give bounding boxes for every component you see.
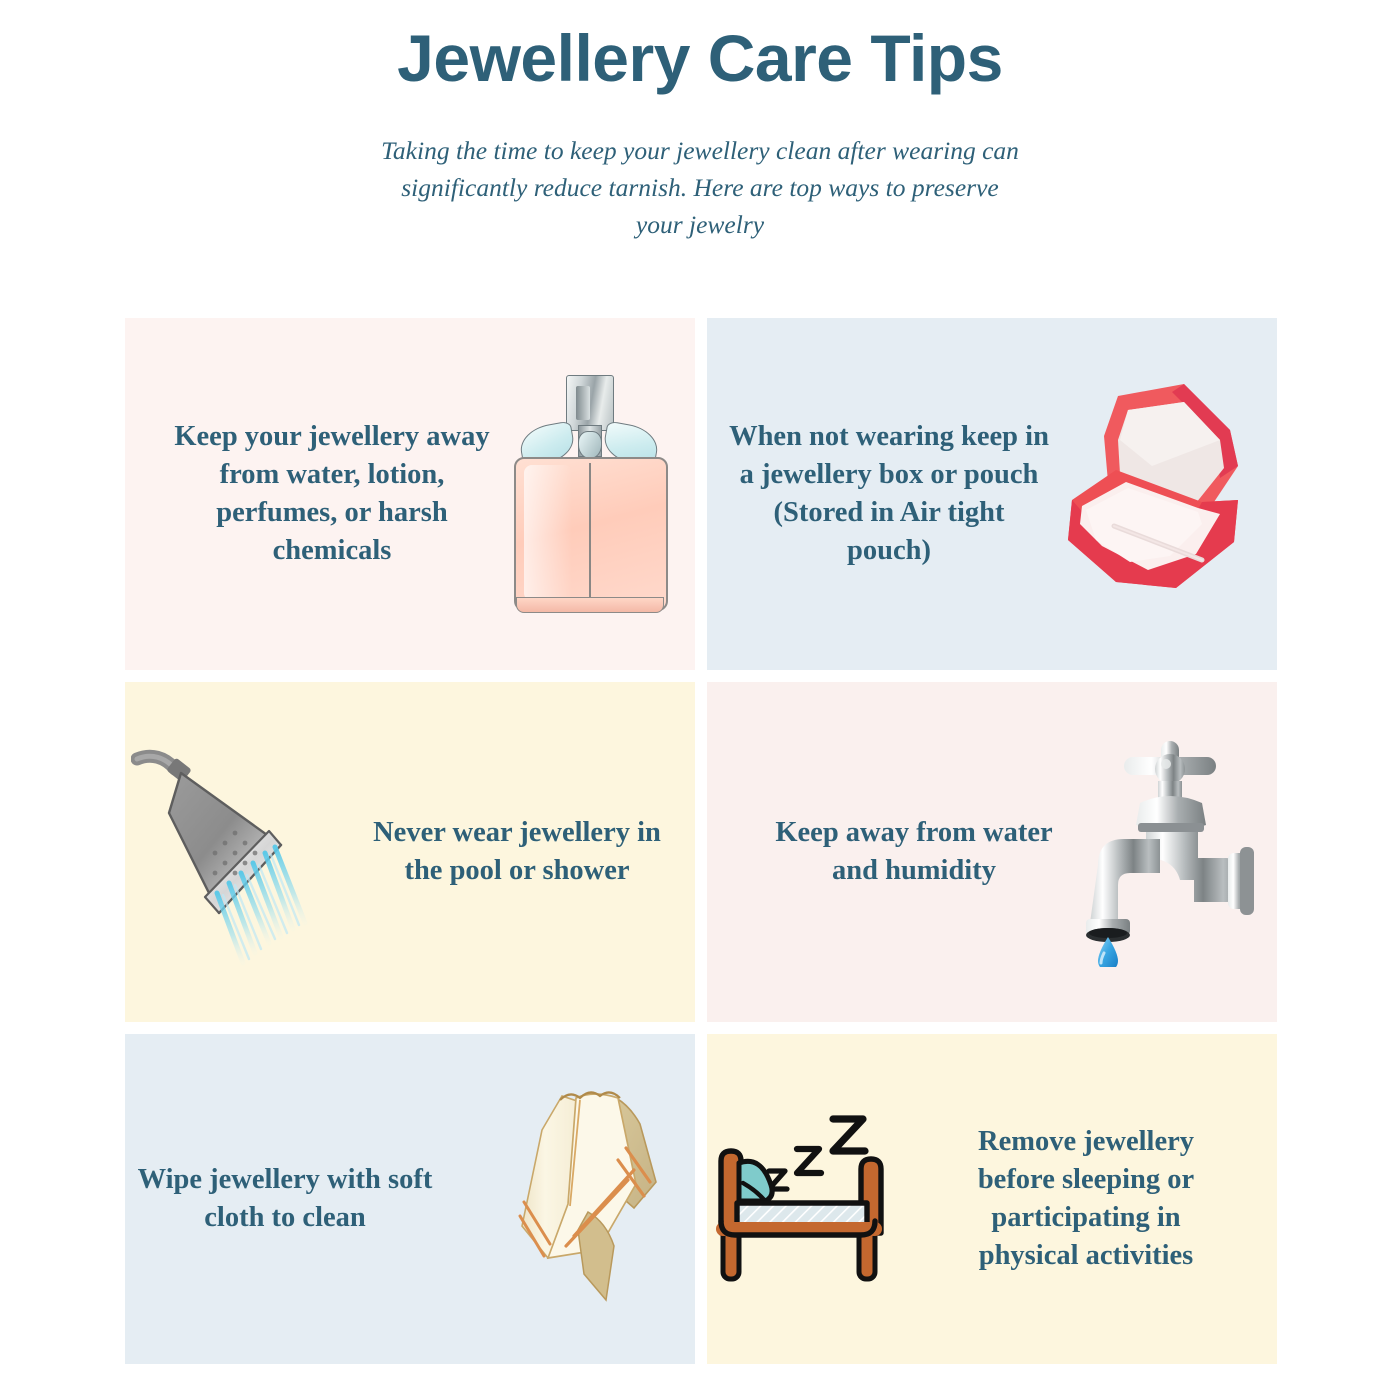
page-subtitle: Taking the time to keep your jewellery c… xyxy=(380,133,1020,244)
tip-card-text: Keep your jewellery away from water, lot… xyxy=(125,418,497,570)
tip-card-jewellery-box[interactable]: When not wearing keep in a jewellery box… xyxy=(707,318,1277,670)
tip-card-illustration xyxy=(1049,318,1277,670)
tip-card-text: Remove jewellery before sleeping or part… xyxy=(941,1123,1277,1275)
bed-svg xyxy=(707,1099,941,1299)
shower-head-icon xyxy=(131,737,361,967)
tip-card-text: Never wear jewellery in the pool or show… xyxy=(367,814,695,890)
perfume-base xyxy=(516,597,664,613)
perfume-body xyxy=(514,457,668,611)
shower-head-svg xyxy=(131,737,361,967)
faucet-svg xyxy=(1068,737,1268,967)
bed-sleep-icon xyxy=(707,1099,941,1299)
tip-card-illustration xyxy=(707,1034,941,1364)
page-title: Jewellery Care Tips xyxy=(0,22,1400,95)
tip-card-text: Wipe jewellery with soft cloth to clean xyxy=(125,1161,505,1237)
tip-card-water-humidity[interactable]: Keep away from water and humidity xyxy=(707,682,1277,1022)
faucet-icon xyxy=(1068,737,1268,967)
perfume-bottle-icon xyxy=(504,369,674,619)
page-header: Jewellery Care Tips Taking the time to k… xyxy=(0,0,1400,244)
tips-grid: Keep your jewellery away from water, lot… xyxy=(125,318,1277,1364)
tip-card-pool-shower[interactable]: Never wear jewellery in the pool or show… xyxy=(125,682,695,1022)
ring-box-icon xyxy=(1052,374,1262,614)
tip-card-sleeping-activities[interactable]: Remove jewellery before sleeping or part… xyxy=(707,1034,1277,1364)
tip-card-illustration xyxy=(125,682,367,1022)
tip-card-illustration xyxy=(505,1034,695,1364)
tip-card-water-lotion-perfume[interactable]: Keep your jewellery away from water, lot… xyxy=(125,318,695,670)
perfume-bow-knot xyxy=(578,431,602,459)
tip-card-illustration xyxy=(497,318,695,670)
cloth-icon xyxy=(510,1084,690,1314)
cloth-svg xyxy=(510,1084,690,1314)
tip-card-text: Keep away from water and humidity xyxy=(707,814,1059,890)
tip-card-soft-cloth[interactable]: Wipe jewellery with soft cloth to clean xyxy=(125,1034,695,1364)
tip-card-text: When not wearing keep in a jewellery box… xyxy=(707,418,1049,570)
ring-box-svg xyxy=(1052,374,1262,614)
tip-card-illustration xyxy=(1059,682,1277,1022)
perfume-cap xyxy=(566,375,614,431)
